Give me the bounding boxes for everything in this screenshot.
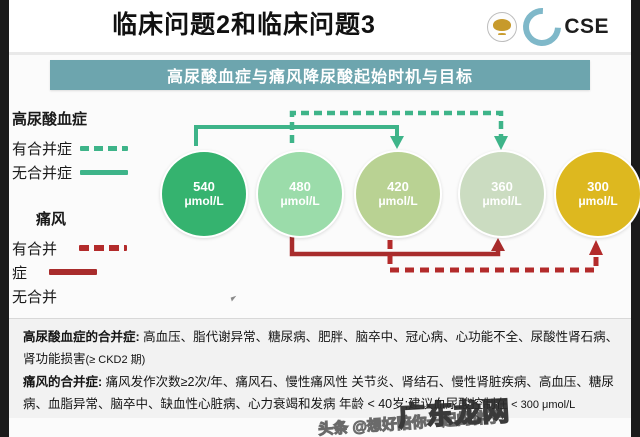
cse-logo-text: CSE bbox=[564, 15, 609, 39]
legend-swatch-solid-red bbox=[49, 269, 97, 275]
connector-gout-with-comorbidity bbox=[390, 240, 603, 270]
footnote-panel: 高尿酸血症的合并症: 高血压、脂代谢异常、糖尿病、肥胖、脑卒中、冠心病、心功能不… bbox=[9, 318, 631, 418]
circle-node-420[interactable]: 420 μmol/L bbox=[354, 150, 442, 238]
connector-gout-no-comorbidity bbox=[292, 236, 505, 254]
legend-swatch-dashed-green bbox=[80, 146, 128, 151]
circle-unit: μmol/L bbox=[482, 194, 521, 209]
circle-value: 540 bbox=[193, 179, 215, 194]
legend-label: 有合并 bbox=[12, 238, 57, 259]
legend-item-hua-no-comorbidity: 无合并症 bbox=[12, 160, 172, 184]
slide-canvas: 临床问题2和临床问题3 CSE 高尿酸血症与痛风降尿酸起始时机与目标 高尿酸血症… bbox=[0, 0, 640, 437]
page-edge-left bbox=[0, 0, 9, 437]
value-circles: 540 μmol/L 480 μmol/L 420 μmol/L 360 μmo… bbox=[160, 150, 628, 234]
legend-item-gout-no-comorbidity: 无合并 bbox=[12, 284, 172, 308]
legend-label-wrap: 症 bbox=[12, 262, 27, 283]
circle-unit: μmol/L bbox=[378, 194, 417, 209]
legend-label: 有合并症 bbox=[12, 138, 72, 159]
legend-swatch-solid-green bbox=[80, 170, 128, 175]
circle-value: 360 bbox=[491, 179, 513, 194]
circle-value: 480 bbox=[289, 179, 311, 194]
legend-item-hua-with-comorbidity: 有合并症 bbox=[12, 136, 172, 160]
legend-group-gout-title: 痛风 bbox=[36, 208, 172, 229]
legend-item-gout-with-comorbidity: 有合并 bbox=[12, 236, 172, 260]
circle-unit: μmol/L bbox=[578, 194, 617, 209]
circle-node-540[interactable]: 540 μmol/L bbox=[160, 150, 248, 238]
circle-unit: μmol/L bbox=[184, 194, 223, 209]
legend-item-gout-with-comorbidity-wrap: 症 bbox=[12, 260, 172, 284]
footnote-tail: < 300 μmol/L bbox=[508, 399, 575, 411]
connector-hua-with-comorbidity bbox=[292, 113, 508, 150]
cse-emblem-icon bbox=[487, 12, 517, 42]
footnote-label: 高尿酸血症的合并症: bbox=[23, 330, 140, 344]
connector-hua-no-comorbidity bbox=[196, 127, 404, 149]
legend-label: 无合并症 bbox=[12, 162, 72, 183]
circle-node-360[interactable]: 360 μmol/L bbox=[458, 150, 546, 238]
footnote-tail: (≥ CKD2 期) bbox=[86, 354, 146, 366]
cse-crescent-icon bbox=[515, 0, 569, 54]
footnote-label: 痛风的合并症: bbox=[23, 375, 102, 389]
circle-value: 300 bbox=[587, 179, 609, 194]
legend-group-hyperuricemia-title: 高尿酸血症 bbox=[12, 108, 172, 129]
legend: 高尿酸血症 有合并症 无合并症 痛风 有合并 症 无合并 bbox=[12, 108, 172, 308]
circle-node-300[interactable]: 300 μmol/L bbox=[554, 150, 640, 238]
circle-value: 420 bbox=[387, 179, 409, 194]
footnote-gout: 痛风的合并症: 痛风发作次数≥2次/年、痛风石、慢性痛风性 关节炎、肾结石、慢性… bbox=[23, 371, 619, 416]
legend-label: 无合并 bbox=[12, 286, 57, 307]
circle-node-480[interactable]: 480 μmol/L bbox=[256, 150, 344, 238]
cse-logo: CSE bbox=[487, 8, 609, 46]
page-title: 临床问题2和临床问题3 bbox=[9, 4, 479, 46]
circle-unit: μmol/L bbox=[280, 194, 319, 209]
legend-swatch-dashed-red bbox=[79, 245, 127, 251]
section-banner: 高尿酸血症与痛风降尿酸起始时机与目标 bbox=[50, 60, 590, 90]
mouse-cursor bbox=[231, 295, 242, 302]
slide-header: 临床问题2和临床问题3 CSE bbox=[9, 0, 631, 52]
header-divider bbox=[9, 52, 631, 55]
footnote-hyperuricemia: 高尿酸血症的合并症: 高血压、脂代谢异常、糖尿病、肥胖、脑卒中、冠心病、心功能不… bbox=[23, 326, 619, 371]
